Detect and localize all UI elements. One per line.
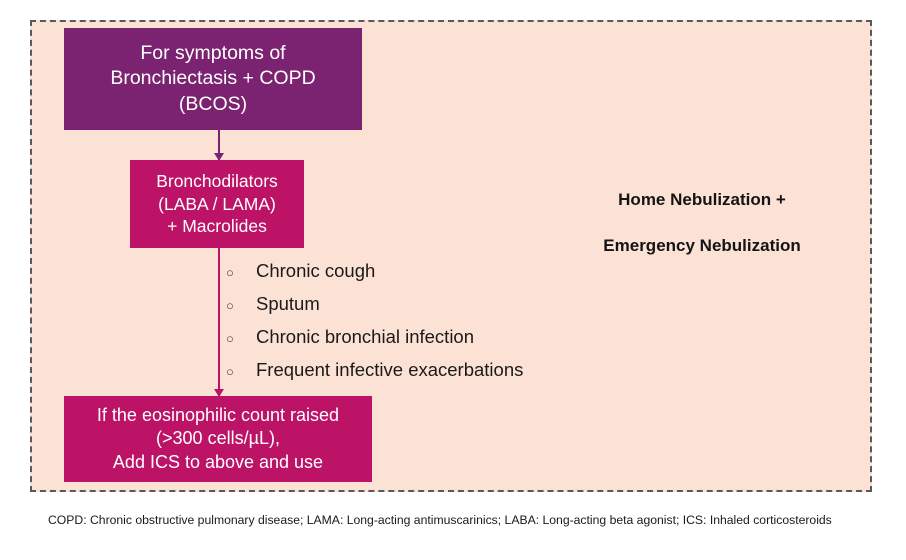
list-item: ○ Chronic bronchial infection — [224, 326, 624, 359]
nebulization-note-line-2: Emergency Nebulization — [532, 236, 872, 256]
bullet-circle-icon: ○ — [224, 266, 256, 279]
list-item-label: Chronic cough — [256, 260, 624, 282]
list-item: ○ Sputum — [224, 293, 624, 326]
connector-shaft — [218, 248, 220, 397]
footnote-abbreviations: COPD: Chronic obstructive pulmonary dise… — [48, 512, 878, 530]
flow-box-ics: If the eosinophilic count raised (>300 c… — [64, 396, 372, 482]
symptom-list: ○ Chronic cough ○ Sputum ○ Chronic bronc… — [224, 260, 624, 392]
diagram-panel: For symptoms of Bronchiectasis + COPD (B… — [30, 20, 872, 492]
list-item: ○ Frequent infective exacerbations — [224, 359, 624, 392]
nebulization-note: Home Nebulization + Emergency Nebulizati… — [532, 190, 872, 256]
flow-box-bronchodilators: Bronchodilators (LABA / LAMA) + Macrolid… — [130, 160, 304, 248]
bullet-circle-icon: ○ — [224, 332, 256, 345]
bullet-circle-icon: ○ — [224, 365, 256, 378]
list-item-label: Sputum — [256, 293, 624, 315]
bullet-circle-icon: ○ — [224, 299, 256, 312]
nebulization-note-line-1: Home Nebulization + — [532, 190, 872, 210]
flow-box-bcos: For symptoms of Bronchiectasis + COPD (B… — [64, 28, 362, 130]
list-item-label: Frequent infective exacerbations — [256, 359, 624, 381]
connector-bronchodilators-to-ics — [218, 248, 220, 397]
list-item-label: Chronic bronchial infection — [256, 326, 624, 348]
list-item: ○ Chronic cough — [224, 260, 624, 293]
connector-bcos-to-bronchodilators — [218, 130, 220, 161]
